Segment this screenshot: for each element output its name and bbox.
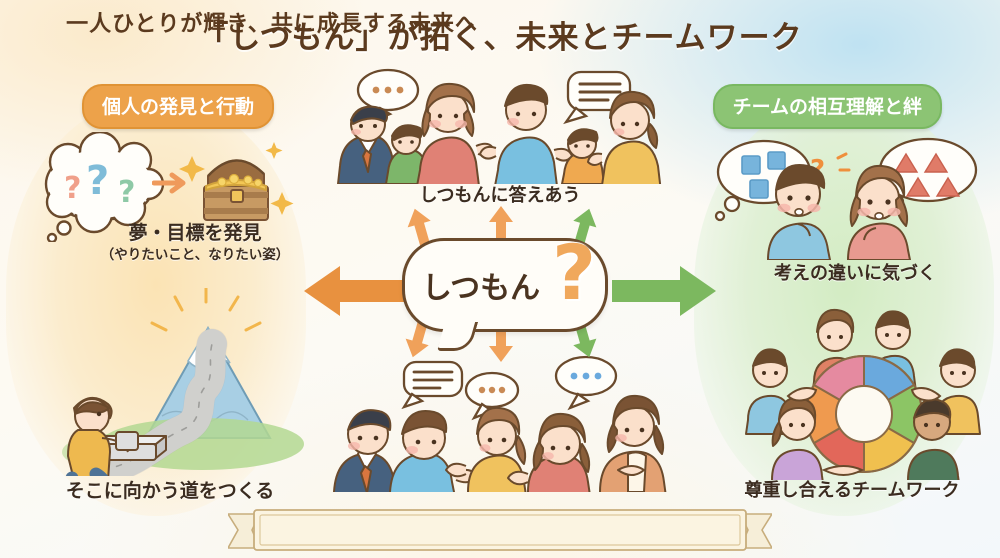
caption-discover-dream: 夢・目標を発見 （やりたいこと、なりたい姿） [60,222,330,264]
caption-discover-dream-main: 夢・目標を発見 [128,223,261,244]
caption-build-the-path: そこに向かう道をつくる [30,476,310,503]
caption-notice-differences: 考えの違いに気づく [720,259,990,285]
svg-text:?: ? [86,158,109,204]
people-answering-questions [336,62,666,184]
ribbon-text: 一人ひとりが輝き、共に成長する未来へ [0,0,544,44]
central-question-mark-icon: ? [552,228,596,317]
caption-respectful-teamwork: 尊重し合えるチームワーク [706,476,998,502]
two-people-different-ideas: ? [706,132,986,260]
treasure-chest [178,130,298,230]
badge-team-understanding: チームの相互理解と絆 [713,84,942,129]
people-in-dialogue [332,352,672,492]
people-circle-puzzle-ring [736,304,992,480]
badge-individual-discovery: 個人の発見と行動 [82,84,274,129]
svg-text:?: ? [64,171,81,206]
big-right-arrow [608,262,720,320]
boy-building-path-to-mountain [42,288,322,476]
bottom-ribbon [228,508,772,552]
svg-text:?: ? [118,175,135,210]
central-bubble-text: しつもん [405,263,557,307]
infographic-poster: 「しつもん」が拓く、未来とチームワーク 個人の発見と行動 チームの相互理解と絆 … [0,0,1000,558]
caption-discover-dream-sub: （やりたいこと、なりたい姿） [60,247,330,264]
big-left-arrow [300,262,412,320]
